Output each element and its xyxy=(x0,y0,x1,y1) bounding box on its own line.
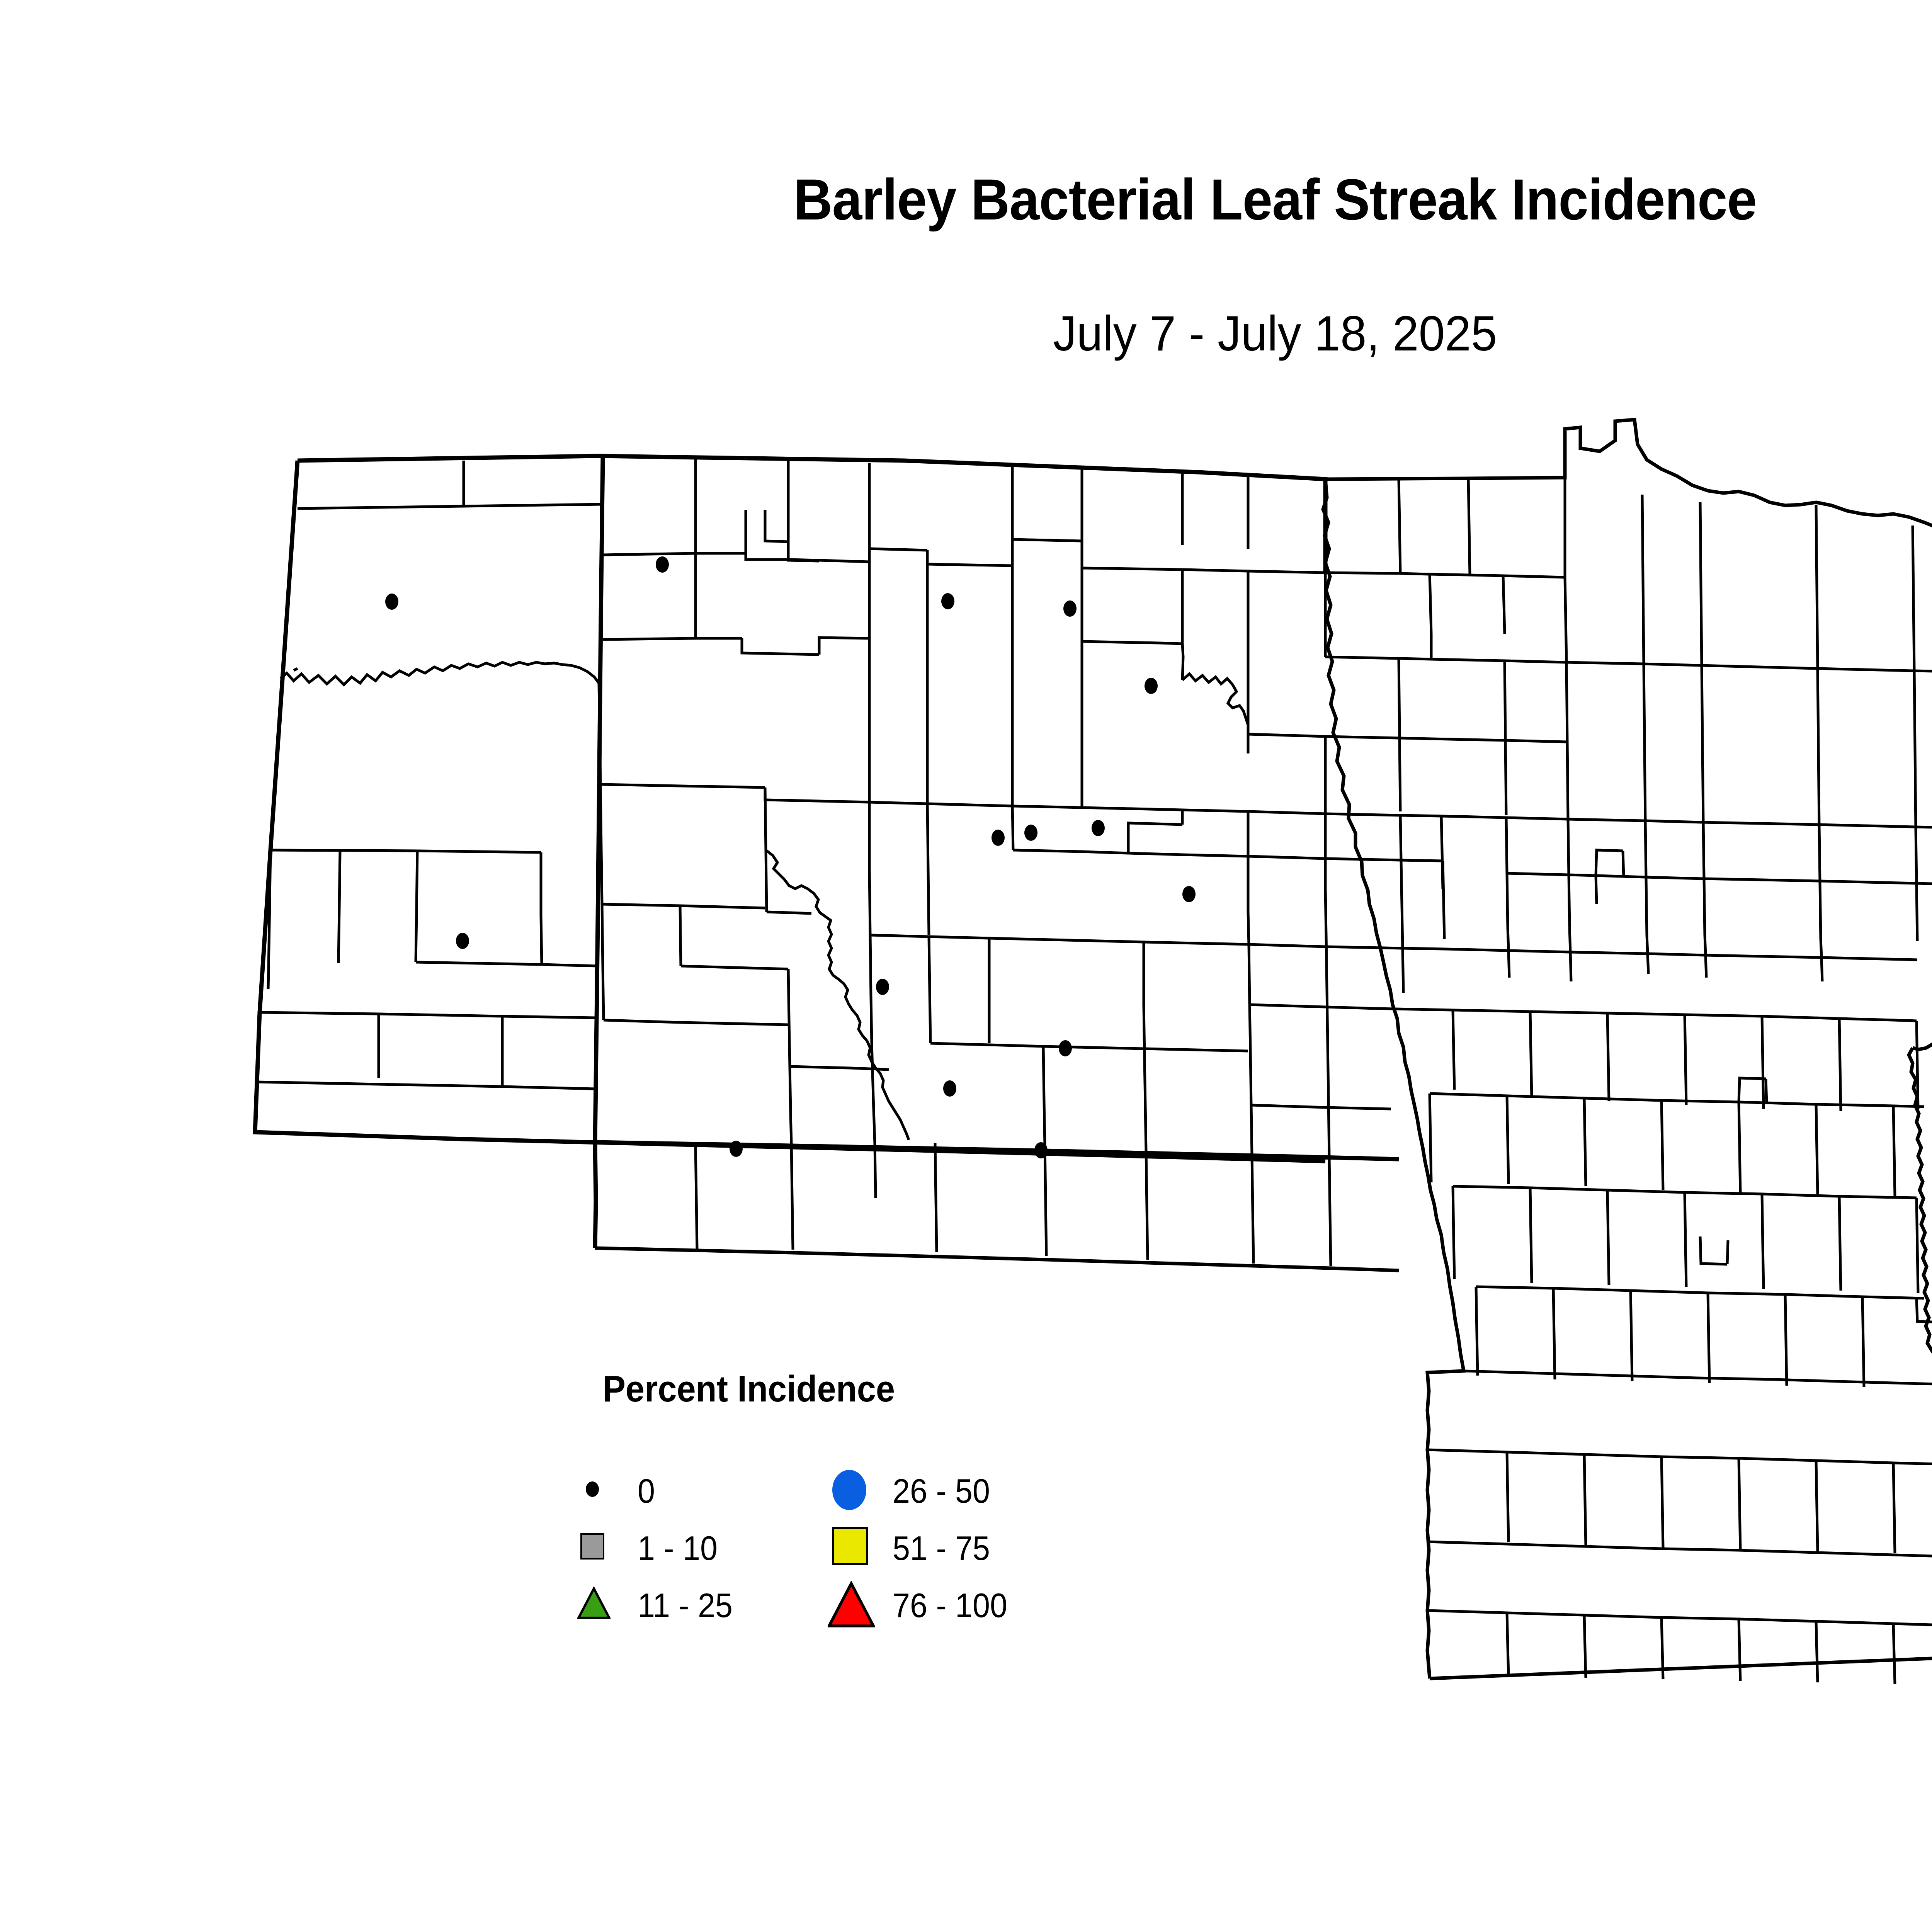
data-point xyxy=(1024,825,1037,841)
data-point xyxy=(730,1141,743,1157)
data-point xyxy=(992,830,1005,846)
legend-label-76-100: 76 - 100 xyxy=(893,1586,1007,1625)
data-point xyxy=(1059,1040,1072,1056)
black-dot-icon xyxy=(572,1464,618,1511)
legend-label-0: 0 xyxy=(638,1471,655,1511)
data-point xyxy=(1063,600,1077,617)
data-point xyxy=(1092,820,1105,836)
map-legend: Percent Incidence 0 1 - 10 xyxy=(603,1368,1105,1646)
data-point xyxy=(385,594,398,610)
data-point xyxy=(1034,1142,1048,1158)
legend-title: Percent Incidence xyxy=(603,1368,895,1410)
data-point xyxy=(943,1080,956,1097)
gray-square-icon xyxy=(572,1522,618,1568)
legend-label-26-50: 26 - 50 xyxy=(893,1471,990,1511)
legend-label-1-10: 1 - 10 xyxy=(638,1529,718,1568)
blue-circle-icon xyxy=(827,1464,873,1511)
legend-label-11-25: 11 - 25 xyxy=(638,1586,733,1625)
data-point xyxy=(1182,886,1196,902)
legend-label-51-75: 51 - 75 xyxy=(893,1529,990,1568)
data-point xyxy=(1145,678,1158,694)
yellow-square-icon xyxy=(827,1522,873,1568)
red-triangle-icon xyxy=(827,1579,873,1625)
map-page: Barley Bacterial Leaf Streak Incidence J… xyxy=(0,0,1932,1932)
data-point xyxy=(941,593,954,609)
data-point xyxy=(656,556,669,573)
data-point xyxy=(456,933,469,949)
green-triangle-icon xyxy=(572,1579,618,1625)
data-point xyxy=(876,979,889,995)
